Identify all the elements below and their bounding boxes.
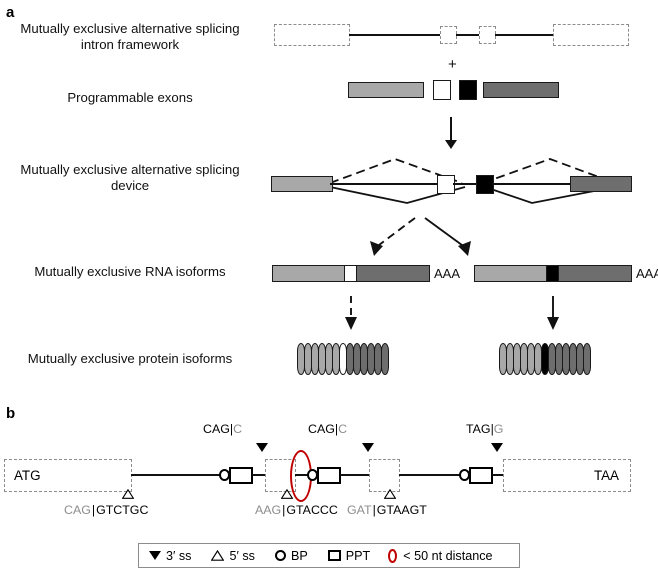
row-label-line-1: Mutually exclusive alternative splicing bbox=[4, 21, 256, 37]
protein-bead bbox=[583, 343, 591, 375]
five-prime-intron-seq-3: GTAAGT bbox=[377, 503, 427, 517]
row-label-programmable-exons: Programmable exons bbox=[4, 90, 256, 106]
ppt-icon-2 bbox=[317, 467, 341, 484]
three-prime-exon-seq-3: G bbox=[494, 422, 504, 436]
protein-bead bbox=[534, 343, 542, 375]
intron-line-2 bbox=[252, 474, 266, 476]
protein-bead bbox=[381, 343, 389, 375]
intron-framework-exon-box-mid-1 bbox=[440, 26, 457, 44]
protein-bead bbox=[499, 343, 507, 375]
rna-right-exon-light bbox=[474, 265, 547, 282]
row-label-line-2: device bbox=[4, 178, 256, 194]
three-prime-exon-seq-1: C bbox=[233, 422, 242, 436]
figure-root: a Mutually exclusive alternative splicin… bbox=[0, 0, 658, 573]
five-prime-site-label-2: AAG|GTACCC bbox=[255, 503, 338, 517]
panel-letter-b: b bbox=[6, 405, 15, 422]
programmable-exon-dark-gray bbox=[483, 82, 559, 98]
five-prime-intron-seq-2: GTACCC bbox=[286, 503, 337, 517]
stop-codon-box: TAA bbox=[503, 459, 631, 492]
protein-bead bbox=[332, 343, 340, 375]
row-label-line-2: intron framework bbox=[4, 37, 256, 53]
rna-left-polyA-label: AAA bbox=[434, 266, 460, 281]
three-prime-intron-seq-1: CAG bbox=[203, 422, 230, 436]
protein-bead bbox=[506, 343, 514, 375]
protein-bead bbox=[325, 343, 333, 375]
programmable-exon-light-gray bbox=[348, 82, 424, 98]
legend-item-label: BP bbox=[291, 549, 308, 563]
five-prime-ss-triangle-2 bbox=[281, 489, 293, 499]
translation-arrow-left bbox=[340, 296, 370, 332]
intron-line-5 bbox=[399, 474, 463, 476]
row-label-line-1: Mutually exclusive RNA isoforms bbox=[4, 264, 256, 280]
rna-left-exon-dark bbox=[356, 265, 430, 282]
circle-open-icon bbox=[275, 550, 286, 561]
protein-bead bbox=[513, 343, 521, 375]
rna-left-exon-light bbox=[272, 265, 345, 282]
mas-device-intron-line-3 bbox=[492, 183, 572, 185]
protein-bead bbox=[353, 343, 361, 375]
triangle-up-open-icon bbox=[211, 550, 224, 561]
assembly-arrow-head bbox=[445, 140, 457, 149]
five-prime-exon-seq-3: GAT bbox=[347, 503, 372, 517]
intron-framework-intron-line-3 bbox=[495, 34, 554, 36]
intron-framework-intron-line-2 bbox=[456, 34, 480, 36]
legend-item: BP bbox=[275, 549, 308, 563]
three-prime-intron-seq-2: CAG bbox=[308, 422, 335, 436]
legend-item: PPT bbox=[328, 549, 371, 563]
three-prime-site-label-3: TAG|G bbox=[466, 422, 503, 436]
intron-framework-exon-box-mid-2 bbox=[479, 26, 496, 44]
row-label-line-1: Mutually exclusive protein isoforms bbox=[4, 351, 256, 367]
legend-item: < 50 nt distance bbox=[388, 549, 492, 563]
legend-item-label: PPT bbox=[346, 549, 371, 563]
protein-bead bbox=[576, 343, 584, 375]
square-open-icon bbox=[328, 550, 341, 561]
panel-letter-a: a bbox=[6, 4, 14, 21]
five-prime-exon-seq-2: AAG bbox=[255, 503, 281, 517]
alternative-exon-box-2 bbox=[369, 459, 400, 492]
red-ellipse-icon bbox=[388, 549, 397, 563]
protein-bead bbox=[346, 343, 354, 375]
plus-symbol: + bbox=[448, 57, 457, 72]
mas-device-intron-line-1 bbox=[330, 183, 441, 185]
protein-bead bbox=[311, 343, 319, 375]
translation-arrow-right bbox=[542, 296, 572, 332]
intron-framework-intron-line-1 bbox=[349, 34, 441, 36]
five-prime-site-label-1: CAG|GTCTGC bbox=[64, 503, 148, 517]
mas-device-exon-light bbox=[271, 176, 333, 192]
protein-bead bbox=[374, 343, 382, 375]
five-prime-ss-triangle-1 bbox=[122, 489, 134, 499]
five-prime-intron-seq-1: GTCTGC bbox=[96, 503, 148, 517]
mas-device-intron-line-2 bbox=[453, 183, 477, 185]
protein-bead bbox=[527, 343, 535, 375]
protein-bead bbox=[520, 343, 528, 375]
protein-isoform-right bbox=[499, 343, 590, 375]
intron-framework-exon-box-right bbox=[553, 24, 629, 46]
row-label-line-1: Programmable exons bbox=[4, 90, 256, 106]
row-label-line-1: Mutually exclusive alternative splicing bbox=[4, 162, 256, 178]
rna-right-polyA-label: AAA bbox=[636, 266, 658, 281]
legend-item: 3′ ss bbox=[149, 549, 191, 563]
row-label-rna-isoforms: Mutually exclusive RNA isoforms bbox=[4, 264, 256, 280]
programmable-exon-black bbox=[459, 80, 477, 100]
five-prime-ss-triangle-3 bbox=[384, 489, 396, 499]
protein-isoform-left bbox=[297, 343, 388, 375]
protein-bead bbox=[360, 343, 368, 375]
triangle-down-filled-icon bbox=[149, 551, 161, 560]
three-prime-site-label-2: CAG|C bbox=[308, 422, 347, 436]
legend-item: 5′ ss bbox=[211, 549, 254, 563]
row-label-protein-isoforms: Mutually exclusive protein isoforms bbox=[4, 351, 256, 367]
intron-line-1 bbox=[131, 474, 223, 476]
five-prime-exon-seq-1: CAG bbox=[64, 503, 91, 517]
protein-bead bbox=[548, 343, 556, 375]
protein-bead bbox=[304, 343, 312, 375]
protein-bead bbox=[367, 343, 375, 375]
three-prime-ss-triangle-2 bbox=[362, 443, 374, 452]
three-prime-exon-seq-2: C bbox=[338, 422, 347, 436]
intron-line-4 bbox=[340, 474, 370, 476]
protein-bead bbox=[297, 343, 305, 375]
programmable-exon-white bbox=[433, 80, 451, 100]
three-prime-intron-seq-3: TAG bbox=[466, 422, 491, 436]
legend-item-label: < 50 nt distance bbox=[403, 549, 492, 563]
five-prime-site-label-3: GAT|GTAAGT bbox=[347, 503, 427, 517]
start-codon-box: ATG bbox=[4, 459, 132, 492]
intron-framework-exon-box-left bbox=[274, 24, 350, 46]
legend-item-label: 3′ ss bbox=[166, 549, 191, 563]
stop-codon-label: TAA bbox=[594, 468, 619, 483]
start-codon-label: ATG bbox=[14, 468, 41, 483]
rna-right-exon-dark bbox=[558, 265, 632, 282]
row-label-intron-framework: Mutually exclusive alternative splicing … bbox=[4, 21, 256, 53]
three-prime-ss-triangle-3 bbox=[491, 443, 503, 452]
three-prime-ss-triangle-1 bbox=[256, 443, 268, 452]
legend-box: 3′ ss5′ ssBPPPT< 50 nt distance bbox=[138, 543, 520, 568]
three-prime-site-label-1: CAG|C bbox=[203, 422, 242, 436]
protein-bead bbox=[318, 343, 326, 375]
branch-arrows-svg bbox=[330, 215, 510, 265]
protein-bead bbox=[555, 343, 563, 375]
mas-device-exon-dark bbox=[570, 176, 632, 192]
protein-bead bbox=[569, 343, 577, 375]
ppt-icon-1 bbox=[229, 467, 253, 484]
row-label-mas-device: Mutually exclusive alternative splicing … bbox=[4, 162, 256, 194]
protein-bead bbox=[562, 343, 570, 375]
ppt-icon-3 bbox=[469, 467, 493, 484]
legend-item-label: 5′ ss bbox=[229, 549, 254, 563]
